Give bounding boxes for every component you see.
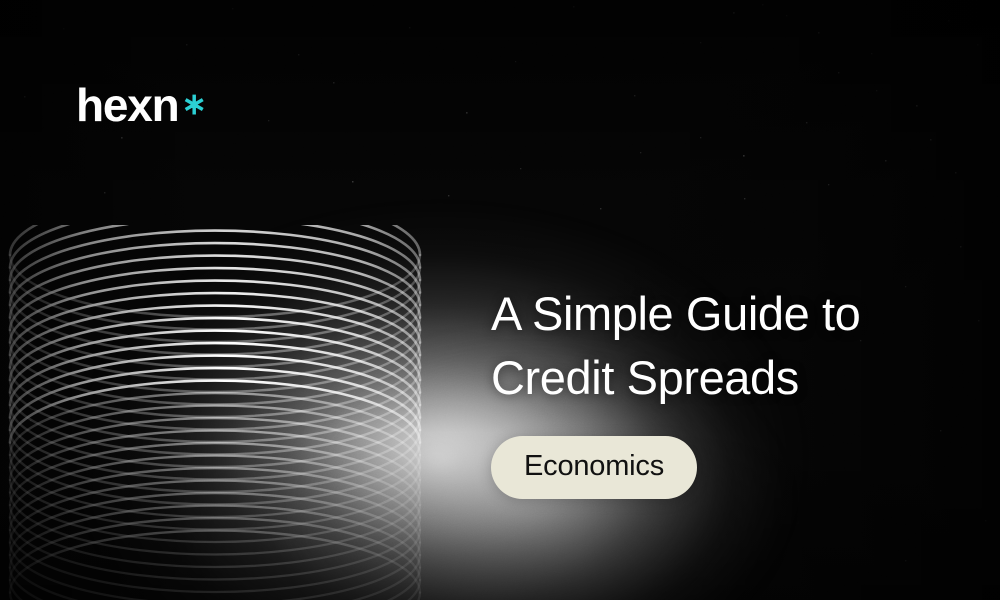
title-line-1: A Simple Guide to bbox=[491, 287, 860, 340]
category-tag[interactable]: Economics bbox=[491, 436, 697, 499]
hero-banner: hexn ∗ A Simple Guide to Credit Spreads … bbox=[0, 0, 1000, 600]
brand-logo[interactable]: hexn ∗ bbox=[76, 82, 207, 128]
title-line-2: Credit Spreads bbox=[491, 351, 799, 404]
hero-content: A Simple Guide to Credit Spreads Economi… bbox=[491, 282, 941, 499]
page-title: A Simple Guide to Credit Spreads bbox=[491, 282, 941, 410]
asterisk-icon: ∗ bbox=[182, 90, 207, 120]
brand-wordmark: hexn bbox=[76, 82, 179, 128]
